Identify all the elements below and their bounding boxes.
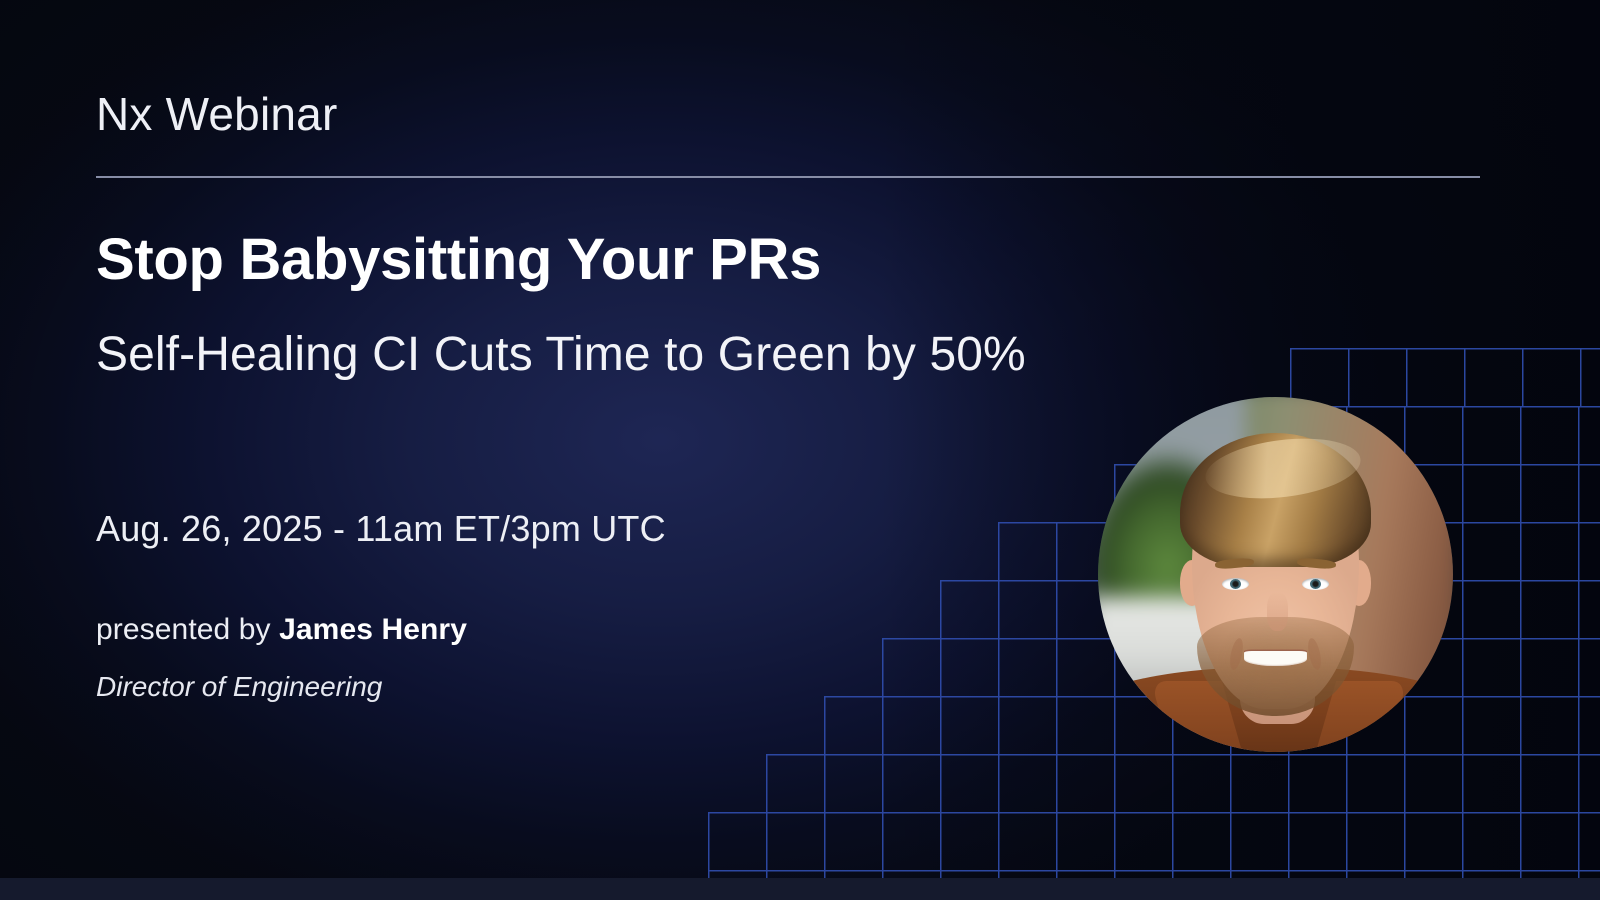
content-column: Nx Webinar Stop Babysitting Your PRs Sel… xyxy=(96,0,1096,900)
presented-by-label: presented by xyxy=(96,613,279,646)
portrait-person xyxy=(1098,397,1453,752)
smiling-mouth xyxy=(1244,651,1308,666)
presenter-line: presented by James Henry xyxy=(96,610,467,651)
webinar-title: Stop Babysitting Your PRs xyxy=(96,228,821,292)
presenter-name: James Henry xyxy=(279,613,467,646)
webinar-kicker: Nx Webinar xyxy=(96,88,337,141)
presenter-role: Director of Engineering xyxy=(96,668,382,706)
webinar-datetime: Aug. 26, 2025 - 11am ET/3pm UTC xyxy=(96,506,666,553)
bottom-band xyxy=(0,878,1600,900)
speaker-headshot-avatar xyxy=(1098,397,1453,752)
nose xyxy=(1267,592,1288,631)
header-divider xyxy=(96,176,1480,178)
webinar-promo-card: Nx Webinar Stop Babysitting Your PRs Sel… xyxy=(0,0,1600,900)
webinar-subtitle: Self-Healing CI Cuts Time to Green by 50… xyxy=(96,318,1096,391)
